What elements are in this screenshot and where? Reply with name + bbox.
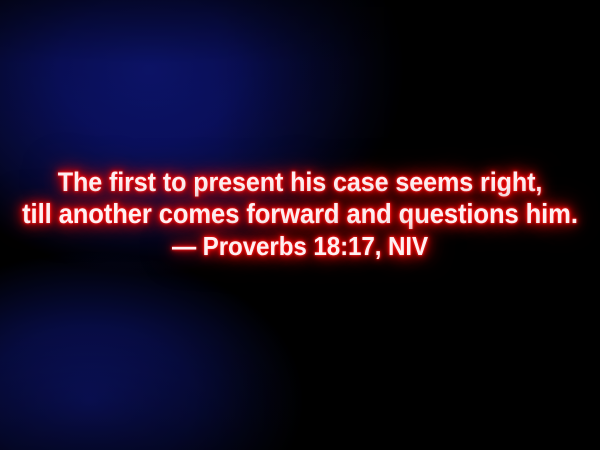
quote-line-1: The first to present his case seems righ… bbox=[21, 166, 579, 198]
quote-line-2: till another comes forward and questions… bbox=[21, 198, 579, 230]
quote-card: The first to present his case seems righ… bbox=[0, 0, 600, 450]
quote-text-block: The first to present his case seems righ… bbox=[0, 166, 600, 262]
quote-attribution: — Proverbs 18:17, NIV bbox=[21, 230, 579, 262]
